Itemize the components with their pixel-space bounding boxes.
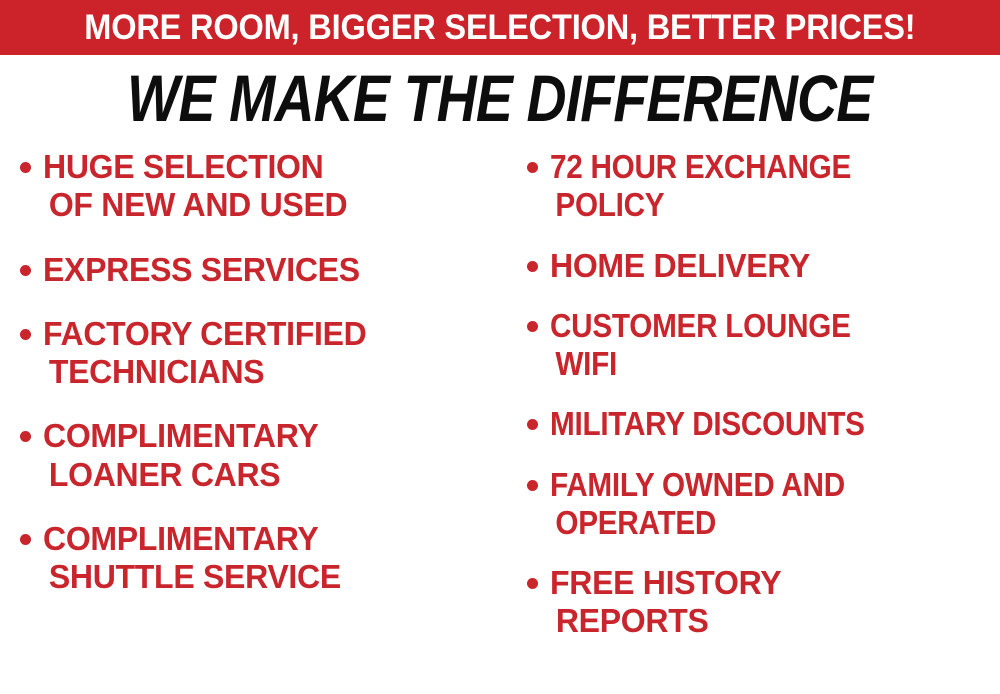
feature-text: EXPRESS SERVICES bbox=[43, 251, 360, 289]
promo-banner: MORE ROOM, BIGGER SELECTION, BETTER PRIC… bbox=[0, 0, 1000, 55]
bullet-dot-icon bbox=[20, 329, 31, 340]
list-item: HOME DELIVERY bbox=[527, 247, 1000, 285]
bullet-dot-icon bbox=[20, 265, 31, 276]
bullet-dot-icon bbox=[527, 480, 538, 491]
bullet-dot-icon bbox=[20, 162, 31, 173]
main-headline-container: WE MAKE THE DIFFERENCE bbox=[0, 55, 1000, 140]
feature-text: FREE HISTORY REPORTS bbox=[550, 564, 781, 641]
bullet-dot-icon bbox=[527, 321, 538, 332]
list-item: FREE HISTORY REPORTS bbox=[527, 564, 1000, 641]
bullet-dot-icon bbox=[527, 261, 538, 272]
bullet-dot-icon bbox=[20, 431, 31, 442]
feature-line-1: FACTORY CERTIFIED bbox=[43, 315, 366, 352]
feature-line-1: HOME DELIVERY bbox=[550, 247, 810, 284]
feature-text: COMPLIMENTARY SHUTTLE SERVICE bbox=[43, 520, 341, 597]
feature-line-1: MILITARY DISCOUNTS bbox=[550, 405, 865, 442]
feature-line-2: OPERATED bbox=[550, 504, 845, 542]
feature-line-2: POLICY bbox=[550, 186, 851, 224]
feature-line-2: REPORTS bbox=[550, 602, 781, 640]
feature-line-1: COMPLIMENTARY bbox=[43, 520, 318, 557]
list-item: HUGE SELECTION OF NEW AND USED bbox=[20, 148, 505, 225]
feature-line-1: HUGE SELECTION bbox=[43, 148, 323, 185]
bullet-dot-icon bbox=[527, 419, 538, 430]
feature-line-1: COMPLIMENTARY bbox=[43, 417, 318, 454]
list-item: EXPRESS SERVICES bbox=[20, 251, 505, 289]
feature-text: FAMILY OWNED AND OPERATED bbox=[550, 466, 845, 543]
list-item: COMPLIMENTARY SHUTTLE SERVICE bbox=[20, 520, 505, 597]
list-item: CUSTOMER LOUNGE WIFI bbox=[527, 307, 1000, 384]
banner-headline: MORE ROOM, BIGGER SELECTION, BETTER PRIC… bbox=[84, 10, 915, 45]
bullet-dot-icon bbox=[527, 578, 538, 589]
list-item: 72 HOUR EXCHANGE POLICY bbox=[527, 148, 1000, 225]
feature-line-1: EXPRESS SERVICES bbox=[43, 251, 360, 288]
bullet-dot-icon bbox=[20, 534, 31, 545]
feature-line-1: FAMILY OWNED AND bbox=[550, 466, 845, 503]
feature-line-2: OF NEW AND USED bbox=[43, 186, 347, 224]
feature-line-2: WIFI bbox=[550, 345, 851, 383]
feature-line-1: 72 HOUR EXCHANGE bbox=[550, 148, 851, 185]
feature-text: 72 HOUR EXCHANGE POLICY bbox=[550, 148, 851, 225]
feature-text: CUSTOMER LOUNGE WIFI bbox=[550, 307, 851, 384]
feature-line-2: TECHNICIANS bbox=[43, 353, 366, 391]
list-item: COMPLIMENTARY LOANER CARS bbox=[20, 417, 505, 494]
bullet-dot-icon bbox=[527, 162, 538, 173]
feature-line-1: CUSTOMER LOUNGE bbox=[550, 307, 851, 344]
page-title: WE MAKE THE DIFFERENCE bbox=[127, 65, 872, 131]
feature-line-2: SHUTTLE SERVICE bbox=[43, 558, 341, 596]
features-column-left: HUGE SELECTION OF NEW AND USED EXPRESS S… bbox=[0, 148, 505, 663]
feature-text: COMPLIMENTARY LOANER CARS bbox=[43, 417, 318, 494]
list-item: MILITARY DISCOUNTS bbox=[527, 405, 1000, 443]
feature-text: HOME DELIVERY bbox=[550, 247, 810, 285]
feature-line-1: FREE HISTORY bbox=[550, 564, 781, 601]
list-item: FACTORY CERTIFIED TECHNICIANS bbox=[20, 315, 505, 392]
feature-text: FACTORY CERTIFIED TECHNICIANS bbox=[43, 315, 366, 392]
features-columns: HUGE SELECTION OF NEW AND USED EXPRESS S… bbox=[0, 140, 1000, 663]
features-column-right: 72 HOUR EXCHANGE POLICY HOME DELIVERY CU… bbox=[505, 148, 1000, 663]
list-item: FAMILY OWNED AND OPERATED bbox=[527, 466, 1000, 543]
feature-text: MILITARY DISCOUNTS bbox=[550, 405, 865, 443]
feature-line-2: LOANER CARS bbox=[43, 456, 318, 494]
feature-text: HUGE SELECTION OF NEW AND USED bbox=[43, 148, 347, 225]
